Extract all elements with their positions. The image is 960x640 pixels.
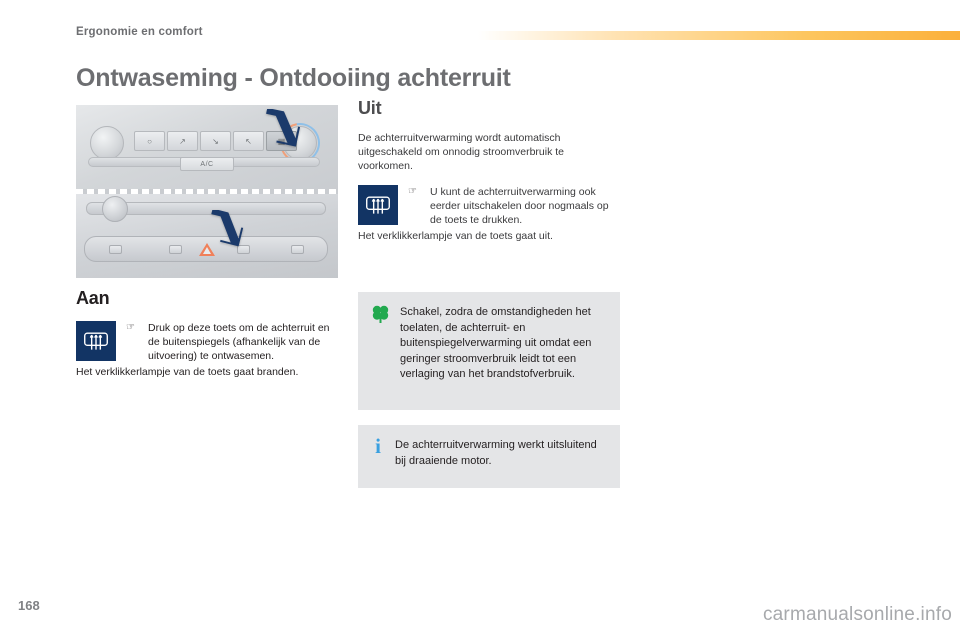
section-uit: Uit De achterruitverwarming wordt automa…	[358, 98, 620, 243]
foot-vent-button: ↘	[200, 131, 231, 151]
ac-button: A/C	[180, 157, 234, 171]
photo-lower-panel	[76, 194, 338, 278]
rear-window-defrost-icon	[76, 321, 116, 361]
face-vent-button: ↗	[167, 131, 198, 151]
uit-bullet-text: U kunt de achterruitverwarming ook eerde…	[430, 185, 620, 227]
recirculation-button: ○	[134, 131, 165, 151]
site-watermark: carmanualsonline.info	[763, 604, 952, 626]
uit-bullet-mark: ☞	[408, 185, 420, 199]
rear-window-defrost-icon	[358, 185, 398, 225]
section-aan-heading: Aan	[76, 288, 338, 309]
fan-speed-knob	[90, 126, 124, 160]
recirculation-console-button	[291, 245, 304, 254]
aan-bullet-row: ☞ Druk op deze toets om de achterruit en…	[76, 321, 338, 363]
clover-eco-icon	[372, 305, 389, 329]
info-note-text: De achterruitverwarming werkt uitsluiten…	[395, 438, 604, 469]
windscreen-defrost-button	[169, 245, 182, 254]
eco-note-text: Schakel, zodra de omstandigheden het toe…	[400, 305, 604, 383]
aan-bullet-mark: ☞	[126, 321, 138, 335]
breadcrumb: Ergonomie en comfort	[76, 26, 203, 38]
page-number: 168	[18, 598, 40, 613]
uit-follow-text: Het verklikkerlampje van de toets gaat u…	[358, 229, 620, 243]
section-uit-heading: Uit	[358, 98, 620, 119]
info-note-box: i De achterruitverwarming werkt uitsluit…	[358, 425, 620, 488]
uit-bullet-row: ☞ U kunt de achterruitverwarming ook eer…	[358, 185, 620, 227]
header-accent-rule	[478, 31, 960, 40]
aan-bullet-text: Druk op deze toets om de achterruit en d…	[148, 321, 338, 363]
eco-note-box: Schakel, zodra de omstandigheden het toe…	[358, 292, 620, 410]
lower-circle-vent	[102, 196, 128, 222]
dashboard-climate-controls-photo: ○ ↗ ↘ ↖ ▦ A/C	[76, 105, 338, 278]
aan-follow-text: Het verklikkerlampje van de toets gaat b…	[76, 365, 338, 379]
manual-page: Ergonomie en comfort Ontwaseming - Ontdo…	[0, 0, 960, 640]
page-title: Ontwaseming - Ontdooiing achterruit	[76, 64, 511, 93]
section-aan: Aan ☞ Druk op deze toets om de achterrui…	[76, 288, 338, 379]
uit-intro-text: De achterruitverwarming wordt automatisc…	[358, 131, 620, 173]
photo-upper-panel: ○ ↗ ↘ ↖ ▦ A/C	[76, 105, 338, 192]
door-lock-button	[109, 245, 122, 254]
information-icon: i	[372, 438, 384, 455]
